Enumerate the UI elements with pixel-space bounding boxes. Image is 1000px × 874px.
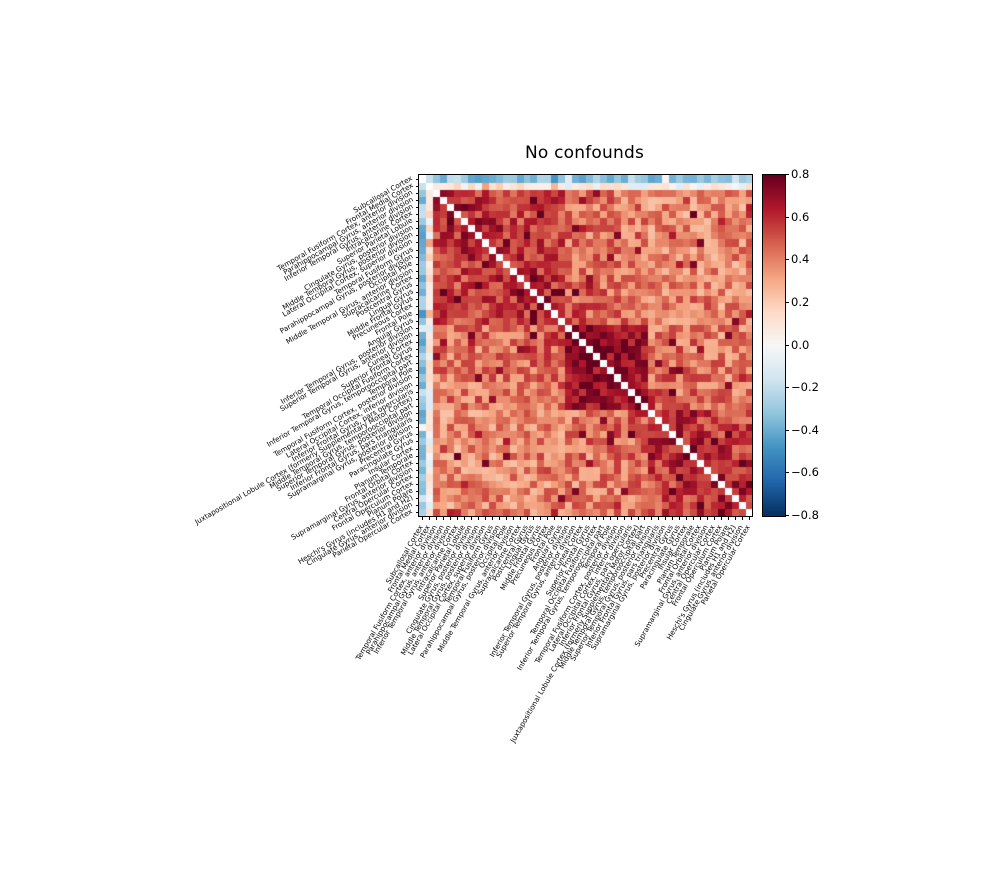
colorbar-tick [785,217,789,218]
y-axis-labels: Subcallosal CortexFrontal Medial CortexT… [0,174,418,515]
colorbar-tick [785,302,789,303]
heatmap-canvas [419,175,752,516]
colorbar-tick-label: −0.2 [791,380,819,394]
colorbar [762,174,786,517]
colorbar-tick-label: −0.8 [791,508,819,522]
x-axis-labels: Subcallosal CortexFrontal Medial CortexT… [0,519,1000,799]
colorbar-tick-label: 0.0 [791,338,809,352]
colorbar-tick [785,345,789,346]
colorbar-tick [785,387,789,388]
colorbar-tick-label: 0.4 [791,252,809,266]
matplotlib-figure: No confounds Subcallosal CortexFrontal M… [0,0,1000,800]
page-title: No confounds [418,143,751,163]
colorbar-tick-label: −0.4 [791,423,819,437]
colorbar-tick-labels: 0.80.60.40.20.0−0.2−0.4−0.6−0.8 [785,174,845,515]
colorbar-tick-label: 0.6 [791,210,809,224]
colorbar-tick [785,515,789,516]
colorbar-canvas [763,175,785,516]
colorbar-tick [785,259,789,260]
colorbar-tick [785,472,789,473]
colorbar-tick-label: −0.6 [791,465,819,479]
correlation-heatmap [418,174,753,517]
colorbar-tick [785,174,789,175]
colorbar-tick [785,430,789,431]
colorbar-tick-label: 0.8 [791,167,809,181]
colorbar-tick-label: 0.2 [791,295,809,309]
